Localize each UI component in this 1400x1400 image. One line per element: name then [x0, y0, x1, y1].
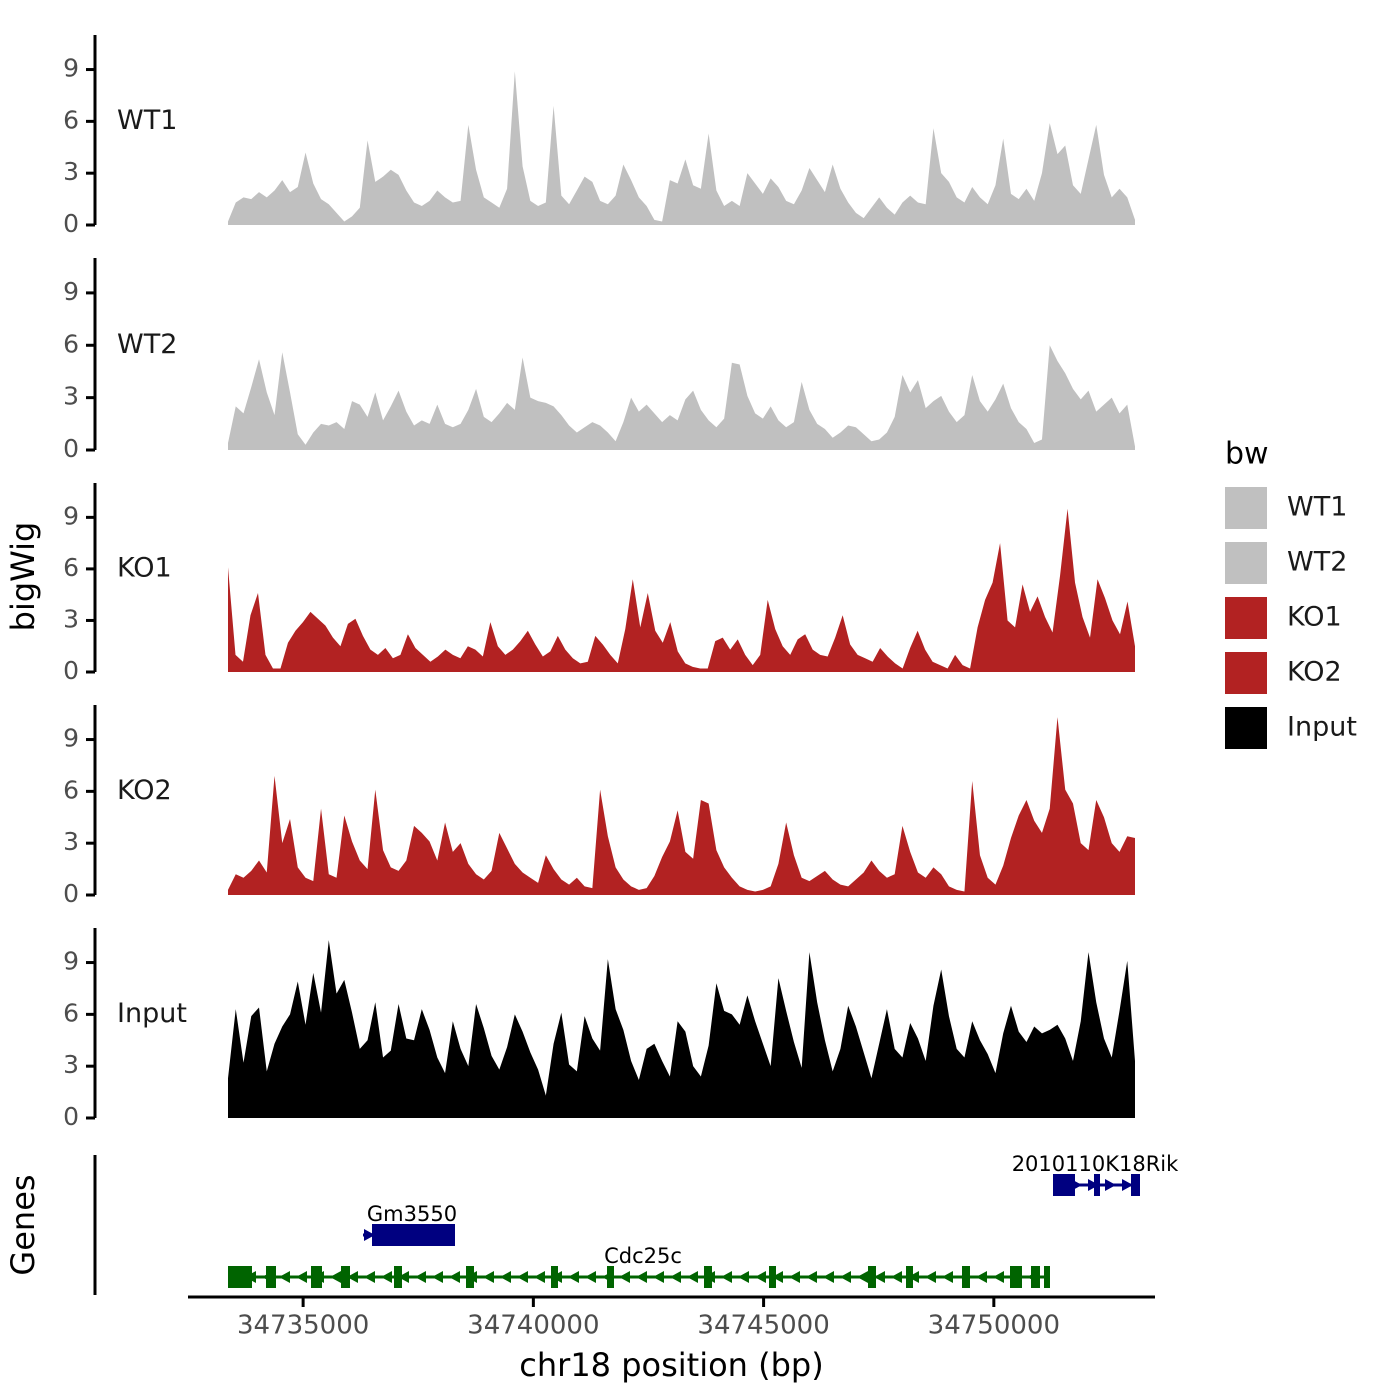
- figure-canvas: 0369WT10369WT20369KO10369KO20369Inputbig…: [0, 0, 1400, 1400]
- gene-exon: [551, 1266, 558, 1288]
- gene-gm3550[interactable]: Gm3550: [363, 1202, 457, 1246]
- legend-swatch-wt1: [1225, 487, 1267, 529]
- legend-swatch-input: [1225, 707, 1267, 749]
- legend-item-wt2[interactable]: WT2: [1225, 542, 1347, 584]
- gene-exon: [1131, 1174, 1140, 1196]
- track-panel-ko2: 0369KO2: [63, 705, 1135, 908]
- genome-browser-figure: 0369WT10369WT20369KO10369KO20369Inputbig…: [0, 0, 1400, 1400]
- legend-swatch-ko1: [1225, 597, 1267, 639]
- legend-label-ko1: KO1: [1287, 602, 1342, 633]
- track-label-ko2: KO2: [117, 775, 172, 806]
- legend-swatch-ko2: [1225, 652, 1267, 694]
- gene-label-2010110k18rik: 2010110K18Rik: [1012, 1152, 1179, 1176]
- y-tick-label-wt1-6: 6: [63, 105, 79, 134]
- legend-label-input: Input: [1287, 712, 1357, 743]
- gene-strand-arrow: [449, 1271, 460, 1283]
- gene-exon: [1053, 1174, 1075, 1196]
- signal-area-input: [228, 940, 1135, 1118]
- gene-strand-arrow: [568, 1271, 579, 1283]
- legend-swatch-wt2: [1225, 542, 1267, 584]
- gene-strand-arrow: [755, 1271, 766, 1283]
- gene-strand-arrow: [806, 1271, 817, 1283]
- gene-exon: [906, 1266, 913, 1288]
- y-tick-label-input-6: 6: [63, 998, 79, 1027]
- y-tick-label-ko2-0: 0: [63, 879, 79, 908]
- x-tick-label-34745000: 34745000: [697, 1310, 829, 1340]
- y-tick-label-input-3: 3: [63, 1050, 79, 1079]
- gene-exon: [228, 1266, 252, 1288]
- track-panel-wt2: 0369WT2: [63, 258, 1135, 463]
- gene-strand-arrow: [823, 1271, 834, 1283]
- y-tick-label-wt1-3: 3: [63, 157, 79, 186]
- legend-label-wt2: WT2: [1287, 547, 1347, 578]
- gene-strand-arrow: [517, 1271, 528, 1283]
- legend-item-input[interactable]: Input: [1225, 707, 1357, 749]
- signal-area-ko1: [228, 509, 1135, 672]
- gene-strand-arrow: [500, 1271, 511, 1283]
- y-tick-label-wt1-9: 9: [63, 54, 79, 83]
- gene-strand-arrow: [976, 1271, 987, 1283]
- genes-axis-title: Genes: [4, 1174, 42, 1275]
- x-axis-title: chr18 position (bp): [519, 1346, 823, 1384]
- x-tick-label-34735000: 34735000: [237, 1310, 369, 1340]
- gene-strand-arrow: [653, 1271, 664, 1283]
- gene-exon: [266, 1266, 276, 1288]
- track-label-wt1: WT1: [117, 105, 177, 136]
- gene-exon: [962, 1266, 970, 1288]
- y-tick-label-wt2-0: 0: [63, 434, 79, 463]
- gene-strand-arrow: [857, 1271, 868, 1283]
- gene-strand-arrow: [891, 1271, 902, 1283]
- gene-strand-arrow: [415, 1271, 426, 1283]
- gene-strand-arrow: [925, 1271, 936, 1283]
- gene-exon: [466, 1266, 474, 1288]
- gene-strand-arrow: [942, 1271, 953, 1283]
- gene-exon: [704, 1266, 712, 1288]
- gene-strand-arrow: [687, 1271, 698, 1283]
- gene-strand-arrow: [330, 1271, 341, 1283]
- gene-strand-arrow: [279, 1271, 290, 1283]
- track-label-wt2: WT2: [117, 329, 177, 360]
- gene-strand-arrow: [432, 1271, 443, 1283]
- gene-exon: [1010, 1266, 1022, 1288]
- y-tick-label-input-0: 0: [63, 1102, 79, 1131]
- gene-exon: [769, 1266, 776, 1288]
- gene-strand-arrow: [585, 1271, 596, 1283]
- y-tick-label-ko1-9: 9: [63, 501, 79, 530]
- legend-item-ko1[interactable]: KO1: [1225, 597, 1342, 639]
- y-tick-label-wt2-9: 9: [63, 277, 79, 306]
- gene-exon: [1044, 1266, 1050, 1288]
- y-tick-label-ko1-6: 6: [63, 553, 79, 582]
- gene-strand-arrow: [636, 1271, 647, 1283]
- legend-title: bw: [1225, 437, 1269, 472]
- y-tick-label-ko1-0: 0: [63, 656, 79, 685]
- y-tick-label-ko2-3: 3: [63, 827, 79, 856]
- gene-strand-arrow: [619, 1271, 630, 1283]
- gene-strand-arrow: [364, 1271, 375, 1283]
- gene-exon: [868, 1266, 876, 1288]
- gene-cdc25c[interactable]: Cdc25c: [228, 1244, 1050, 1288]
- y-axis-title: bigWig: [4, 522, 42, 632]
- gene-2010110k18rik[interactable]: 2010110K18Rik: [1012, 1152, 1179, 1196]
- legend-item-wt1[interactable]: WT1: [1225, 487, 1347, 529]
- track-panel-ko1: 0369KO1: [63, 483, 1135, 685]
- gene-exon: [1094, 1174, 1100, 1196]
- y-tick-label-ko1-3: 3: [63, 604, 79, 633]
- gene-label-cdc25c: Cdc25c: [604, 1244, 682, 1268]
- signal-area-wt2: [228, 345, 1135, 450]
- y-tick-label-input-9: 9: [63, 947, 79, 976]
- gene-strand-arrow: [993, 1271, 1004, 1283]
- y-tick-label-wt2-3: 3: [63, 382, 79, 411]
- gene-strand-arrow: [738, 1271, 749, 1283]
- gene-strand-arrow: [534, 1271, 545, 1283]
- gene-strand-arrow: [789, 1271, 800, 1283]
- gene-strand-arrow: [1105, 1179, 1116, 1191]
- gene-exon: [394, 1266, 402, 1288]
- gene-label-gm3550: Gm3550: [367, 1202, 457, 1226]
- y-tick-label-ko2-6: 6: [63, 775, 79, 804]
- signal-area-ko2: [228, 717, 1135, 895]
- y-tick-label-ko2-9: 9: [63, 724, 79, 753]
- gene-exon: [311, 1266, 322, 1288]
- x-tick-label-34740000: 34740000: [467, 1310, 599, 1340]
- signal-area-wt1: [228, 71, 1135, 225]
- gene-strand-arrow: [296, 1271, 307, 1283]
- track-panel-wt1: 0369WT1: [63, 35, 1135, 238]
- gene-exon: [607, 1266, 614, 1288]
- track-label-input: Input: [117, 998, 187, 1029]
- gene-strand-arrow: [670, 1271, 681, 1283]
- gene-exon: [341, 1266, 350, 1288]
- gene-strand-arrow: [721, 1271, 732, 1283]
- legend-item-ko2[interactable]: KO2: [1225, 652, 1342, 694]
- gene-exon: [1031, 1266, 1040, 1288]
- gene-strand-arrow: [381, 1271, 392, 1283]
- y-tick-label-wt2-6: 6: [63, 329, 79, 358]
- gene-strand-arrow: [840, 1271, 851, 1283]
- y-tick-label-wt1-0: 0: [63, 209, 79, 238]
- legend-label-ko2: KO2: [1287, 657, 1342, 688]
- gene-strand-arrow: [483, 1271, 494, 1283]
- gene-exon: [372, 1224, 455, 1246]
- legend-label-wt1: WT1: [1287, 492, 1347, 523]
- track-panel-input: 0369Input: [63, 928, 1135, 1131]
- track-label-ko1: KO1: [117, 552, 172, 583]
- x-tick-label-34750000: 34750000: [928, 1310, 1060, 1340]
